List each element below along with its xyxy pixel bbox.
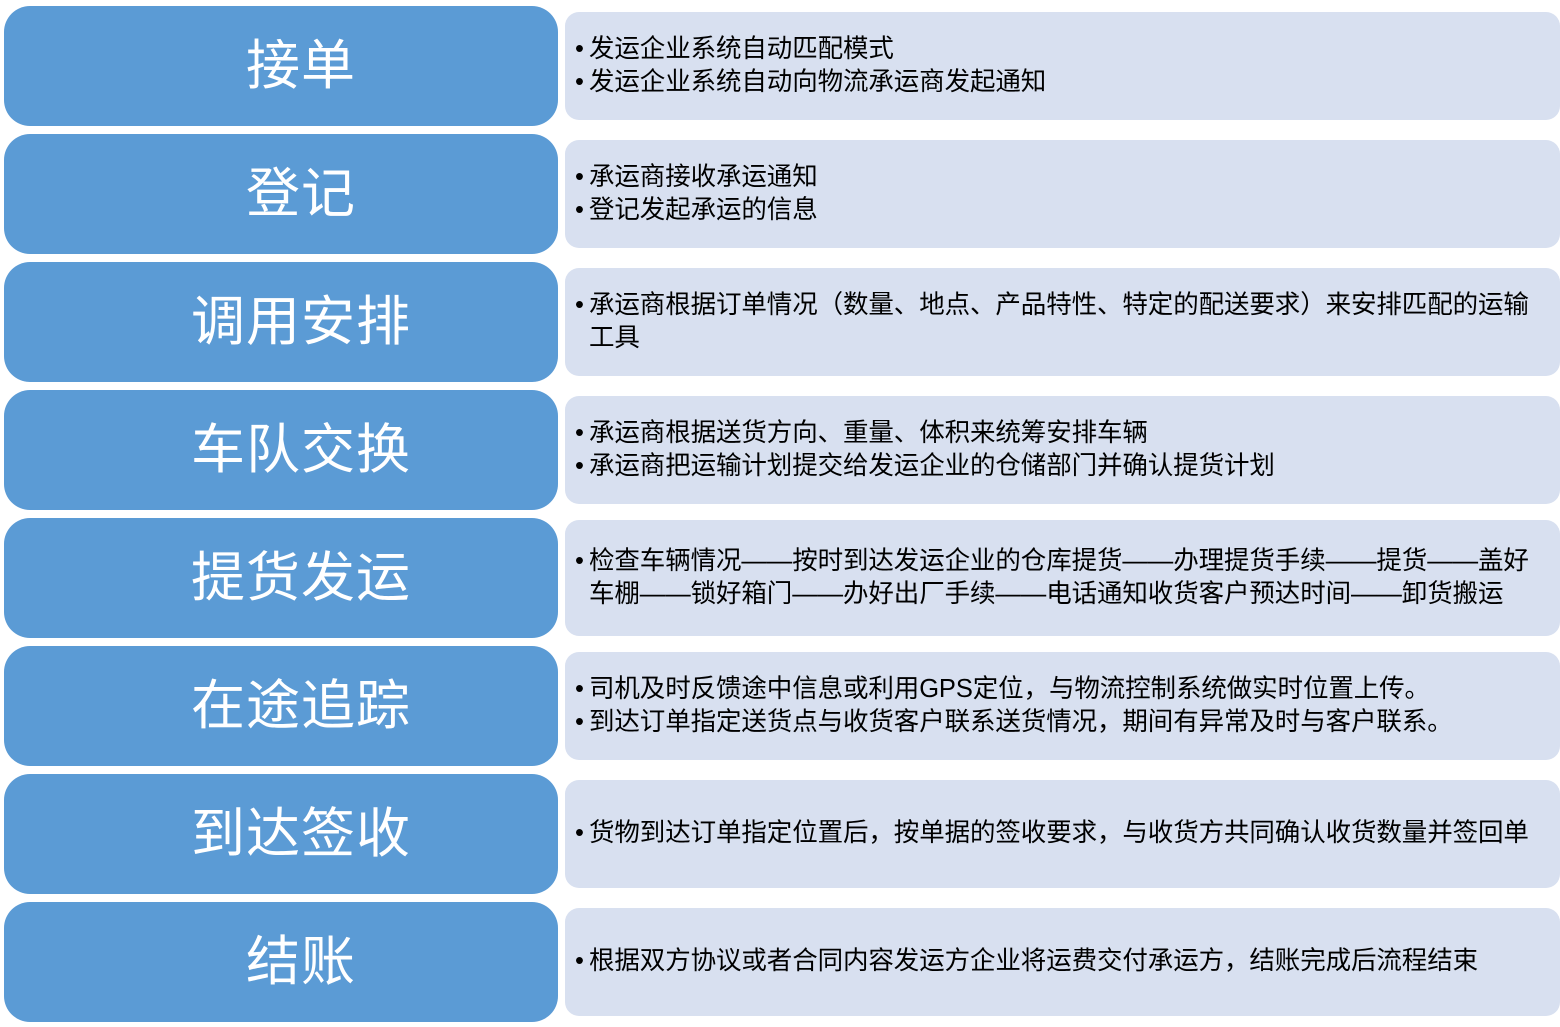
bullet-dot-icon: •	[575, 673, 589, 706]
stage-chip-4[interactable]: 车队交换	[4, 390, 558, 510]
stage-detail-panel-3: •承运商根据订单情况（数量、地点、产品特性、特定的配送要求）来安排匹配的运输工具	[565, 268, 1560, 376]
stage-chip-1[interactable]: 接单	[4, 6, 558, 126]
detail-bullet-item: •发运企业系统自动匹配模式	[575, 33, 1548, 66]
bullet-dot-icon: •	[575, 945, 589, 978]
stage-label: 在途追踪	[151, 678, 411, 735]
detail-bullet-item: •到达订单指定送货点与收货客户联系送货情况，期间有异常及时与客户联系。	[575, 706, 1548, 739]
detail-bullet-text: 货物到达订单指定位置后，按单据的签收要求，与收货方共同确认收货数量并签回单	[589, 817, 1548, 850]
bullet-dot-icon: •	[575, 450, 589, 483]
detail-bullet-item: •承运商把运输计划提交给发运企业的仓储部门并确认提货计划	[575, 450, 1548, 483]
detail-bullet-item: •登记发起承运的信息	[575, 194, 1548, 227]
detail-bullet-item: •发运企业系统自动向物流承运商发起通知	[575, 66, 1548, 99]
stage-detail-panel-8: •根据双方协议或者合同内容发运方企业将运费交付承运方，结账完成后流程结束	[565, 908, 1560, 1016]
detail-bullet-text: 承运商根据订单情况（数量、地点、产品特性、特定的配送要求）来安排匹配的运输工具	[589, 289, 1548, 356]
stage-detail-panel-6: •司机及时反馈途中信息或利用GPS定位，与物流控制系统做实时位置上传。•到达订单…	[565, 652, 1560, 760]
detail-bullet-text: 承运商根据送货方向、重量、体积来统筹安排车辆	[589, 417, 1548, 450]
detail-bullet-text: 发运企业系统自动匹配模式	[589, 33, 1548, 66]
bullet-dot-icon: •	[575, 706, 589, 739]
stage-detail-panel-5: •检查车辆情况——按时到达发运企业的仓库提货——办理提货手续——提货——盖好车棚…	[565, 520, 1560, 636]
detail-bullet-item: •检查车辆情况——按时到达发运企业的仓库提货——办理提货手续——提货——盖好车棚…	[575, 545, 1548, 612]
detail-bullet-item: •根据双方协议或者合同内容发运方企业将运费交付承运方，结账完成后流程结束	[575, 945, 1548, 978]
stage-label: 调用安排	[151, 294, 411, 351]
bullet-dot-icon: •	[575, 161, 589, 194]
bullet-dot-icon: •	[575, 417, 589, 450]
stage-chip-5[interactable]: 提货发运	[4, 518, 558, 638]
bullet-dot-icon: •	[575, 33, 589, 66]
stage-chip-3[interactable]: 调用安排	[4, 262, 558, 382]
detail-bullet-item: •司机及时反馈途中信息或利用GPS定位，与物流控制系统做实时位置上传。	[575, 673, 1548, 706]
bullet-dot-icon: •	[575, 194, 589, 227]
detail-bullet-text: 检查车辆情况——按时到达发运企业的仓库提货——办理提货手续——提货——盖好车棚—…	[589, 545, 1548, 612]
bullet-dot-icon: •	[575, 545, 589, 578]
stage-label: 车队交换	[151, 422, 411, 479]
stage-label: 接单	[206, 38, 356, 95]
stage-detail-panel-7: •货物到达订单指定位置后，按单据的签收要求，与收货方共同确认收货数量并签回单	[565, 780, 1560, 888]
stage-chip-8[interactable]: 结账	[4, 902, 558, 1022]
stage-detail-panel-1: •发运企业系统自动匹配模式•发运企业系统自动向物流承运商发起通知	[565, 12, 1560, 120]
detail-bullet-text: 到达订单指定送货点与收货客户联系送货情况，期间有异常及时与客户联系。	[589, 706, 1548, 739]
detail-bullet-text: 承运商把运输计划提交给发运企业的仓储部门并确认提货计划	[589, 450, 1548, 483]
detail-bullet-text: 承运商接收承运通知	[589, 161, 1548, 194]
stage-chip-6[interactable]: 在途追踪	[4, 646, 558, 766]
detail-bullet-text: 登记发起承运的信息	[589, 194, 1548, 227]
detail-bullet-item: •货物到达订单指定位置后，按单据的签收要求，与收货方共同确认收货数量并签回单	[575, 817, 1548, 850]
detail-bullet-item: •承运商根据订单情况（数量、地点、产品特性、特定的配送要求）来安排匹配的运输工具	[575, 289, 1548, 356]
detail-bullet-text: 司机及时反馈途中信息或利用GPS定位，与物流控制系统做实时位置上传。	[589, 673, 1548, 706]
bullet-dot-icon: •	[575, 289, 589, 322]
detail-bullet-text: 发运企业系统自动向物流承运商发起通知	[589, 66, 1548, 99]
detail-bullet-text: 根据双方协议或者合同内容发运方企业将运费交付承运方，结账完成后流程结束	[589, 945, 1548, 978]
stage-detail-panel-2: •承运商接收承运通知•登记发起承运的信息	[565, 140, 1560, 248]
stage-detail-panel-4: •承运商根据送货方向、重量、体积来统筹安排车辆•承运商把运输计划提交给发运企业的…	[565, 396, 1560, 504]
detail-bullet-item: •承运商根据送货方向、重量、体积来统筹安排车辆	[575, 417, 1548, 450]
stage-chip-7[interactable]: 到达签收	[4, 774, 558, 894]
bullet-dot-icon: •	[575, 66, 589, 99]
detail-bullet-item: •承运商接收承运通知	[575, 161, 1548, 194]
process-flow-diagram: 接单•发运企业系统自动匹配模式•发运企业系统自动向物流承运商发起通知登记•承运商…	[0, 0, 1560, 1027]
stage-label: 到达签收	[151, 806, 411, 863]
stage-label: 登记	[206, 166, 356, 223]
stage-label: 提货发运	[151, 550, 411, 607]
stage-label: 结账	[206, 934, 356, 991]
bullet-dot-icon: •	[575, 817, 589, 850]
stage-chip-2[interactable]: 登记	[4, 134, 558, 254]
